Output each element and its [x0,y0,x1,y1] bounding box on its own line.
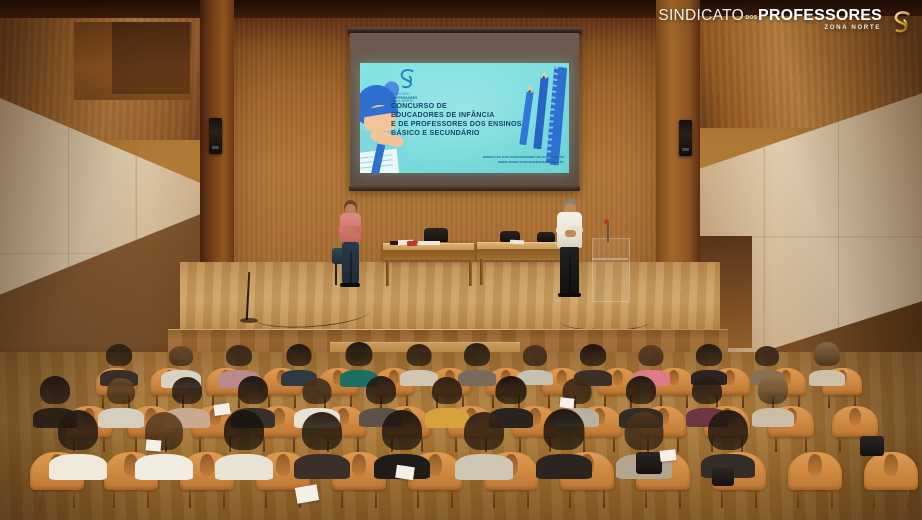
conference-table-left [383,243,474,260]
watermark-dos: DOS [745,16,756,21]
attendee-head [107,378,135,404]
seat-leg [293,437,295,452]
attendee-shoulders [98,408,144,428]
seat-leg [839,437,841,452]
attendee-bag [712,468,734,486]
seat-leg [519,437,521,452]
microphone-stand-base [240,318,258,323]
slide-footer: SINDICATO DOS PROFESSORES DA ZONA NORTE … [438,155,564,164]
audience-attendee [300,412,344,479]
attendee-shoulders [455,454,513,480]
attendee-head [692,377,722,404]
attendee-head [639,345,664,366]
audience-seat [864,452,918,508]
table-item-black-device [390,241,398,245]
audience-seat [788,452,842,508]
seat-leg [455,437,457,452]
watermark-primary-line: SINDICATO DOS PROFESSORES [658,8,882,24]
audience-attendee [430,377,464,428]
seat-leg [375,490,377,508]
seat-leg [873,490,875,508]
attendee-head [625,412,664,450]
audience-attendee [222,410,266,480]
seat-leg [775,437,777,452]
attendee-bag [860,436,884,456]
attendee-shoulders [135,454,193,480]
attendee-head [224,410,264,450]
attendee-head [382,410,422,450]
watermark-subtitle: ZONA NORTE [824,25,882,31]
seat-leg [907,490,909,508]
table-item-papers-3 [510,240,524,245]
attendee-head [287,344,312,366]
attendee-head [696,344,722,366]
wall-speaker-left [209,118,222,154]
slide-ruler-graphic [546,67,567,166]
watermark-professores: PROFESSORES [758,8,882,24]
seat-leg [645,490,647,508]
lectern-pointer-rod [607,222,609,242]
attendee-handout-paper [395,465,415,480]
watermark-logo: SINDICATO DOS PROFESSORES ZONA NORTE [658,8,914,39]
attendee-head [238,376,268,404]
seat-leg [199,437,201,452]
attendee-shoulders [752,408,794,427]
audience-attendee [812,342,842,386]
attendee-shoulders [294,454,350,479]
attendee-head [303,378,332,404]
attendee-head [366,376,396,404]
presenter-right-hands [565,230,576,237]
attendee-head [523,345,547,366]
seat-leg [805,437,807,452]
attendee-head [169,346,193,366]
table-leg [469,260,472,286]
attendee-head [407,344,432,366]
slide-title-line-3: E DE PROFESSORES DOS ENSINOS [391,120,531,129]
seat-leg [831,490,833,508]
seat-back-notch [849,408,861,426]
seat-leg [265,490,267,508]
seat-leg [341,490,343,508]
stage-chair-black-1 [424,228,448,242]
attendee-bag [636,452,662,474]
table-apron-left [383,250,474,260]
slide-title-line-1: CONCURSO DE [391,102,531,111]
audience-attendee [462,343,492,386]
table-item-red-folder [407,241,417,246]
seat-leg [103,437,105,452]
presenter-right-trousers [560,247,579,294]
attendee-head [226,345,252,366]
attendee-head [172,377,202,404]
seat-leg [147,490,149,508]
slide-logo-caption-line1: SINDICATO [391,93,417,97]
projection-screen-weight-bar [349,186,580,191]
attendee-head [758,374,788,404]
attendee-shoulders [215,454,273,480]
seat-leg [39,490,41,508]
attendee-handout-paper [213,403,230,416]
audience-attendee [756,374,790,427]
seat-leg [189,490,191,508]
seat-back-notch [613,370,623,385]
wall-speaker-right [679,120,692,156]
slide-logo-mark [394,67,420,93]
attendee-head [544,409,585,450]
audience-attendee [462,412,506,480]
presenter-left-trousers [342,242,359,284]
attendee-handout-paper [560,397,575,408]
attendee-shoulders [536,454,592,479]
seat-leg [73,490,75,508]
attendee-head [106,344,132,366]
audience-attendee [542,409,586,479]
seat-leg [755,490,757,508]
seat-leg [223,490,225,508]
attendee-head [626,376,656,404]
seat-leg [527,490,529,508]
seat-back [832,406,878,437]
attendee-shoulders [49,454,107,480]
presenter-right [552,198,588,298]
attendee-head [496,376,527,404]
attendee-head [464,412,504,450]
slide-pencil-graphic-large [533,77,548,149]
seat-leg [721,490,723,508]
attendee-head [755,346,779,366]
seat-back-notch [352,454,366,475]
attendee-head [302,412,342,450]
presenter-left-shoes [340,283,360,287]
attendee-head [814,342,840,366]
table-item-papers-2 [418,241,440,245]
attendee-head [432,377,462,404]
seat-leg [357,437,359,452]
watermark-text: SINDICATO DOS PROFESSORES ZONA NORTE [658,8,882,31]
seat-back-notch [428,454,442,475]
slide-title-line-4: BÁSICO E SECUNDÁRIO [391,129,531,138]
slide-title-line-2: EDUCADORES DE INFÂNCIA [391,111,531,120]
seat-back-notch [669,370,679,385]
acrylic-lectern-shelf [592,258,628,260]
attendee-head [464,343,490,366]
projected-slide: SINDICATO PROFESSORES ZONA NORTE CONCURS… [360,63,569,173]
attendee-handout-paper [146,439,162,451]
slide-footer-url: WWW.SINDICATODOSPROFESSORES.PT [438,160,564,165]
seat-leg [417,490,419,508]
seat-leg [677,437,679,452]
table-leg [386,260,389,286]
attendee-shoulders [809,370,845,386]
seat-back [788,452,842,490]
audience-attendee [104,378,138,428]
seat-back [864,452,918,490]
seat-leg [451,490,453,508]
seat-leg [603,490,605,508]
slide-title: CONCURSO DE EDUCADORES DE INFÂNCIA E DE … [391,102,531,138]
seat-leg [135,437,137,452]
acrylic-lectern [592,238,630,302]
seat-leg [828,395,830,408]
seat-back-notch [884,454,898,475]
attendee-head [58,410,98,450]
audience-attendee [56,410,100,480]
table-leg [480,259,483,285]
attendee-head [708,410,748,450]
attendee-handout-paper [659,449,676,462]
presenter-left-hands [346,227,356,233]
seat-leg [113,490,115,508]
watermark-s-mark-icon [888,9,914,39]
left-recess-shadow [112,22,190,94]
seat-leg [569,490,571,508]
seat-back-notch [200,454,214,475]
seat-leg [679,490,681,508]
seat-leg [493,490,495,508]
attendee-head [580,344,606,366]
attendee-head [346,342,373,366]
seat-back-notch [808,454,822,475]
seat-leg [797,490,799,508]
watermark-sindicato: SINDICATO [658,8,744,24]
auditorium-photo: SINDICATO PROFESSORES ZONA NORTE CONCURS… [0,0,922,520]
lectern-pointer-tip [604,219,609,224]
presenter-left [335,200,367,288]
attendee-head [40,376,70,404]
presenter-right-shoes [558,293,581,297]
seat-back-notch [276,454,290,475]
seat-leg [613,437,615,452]
